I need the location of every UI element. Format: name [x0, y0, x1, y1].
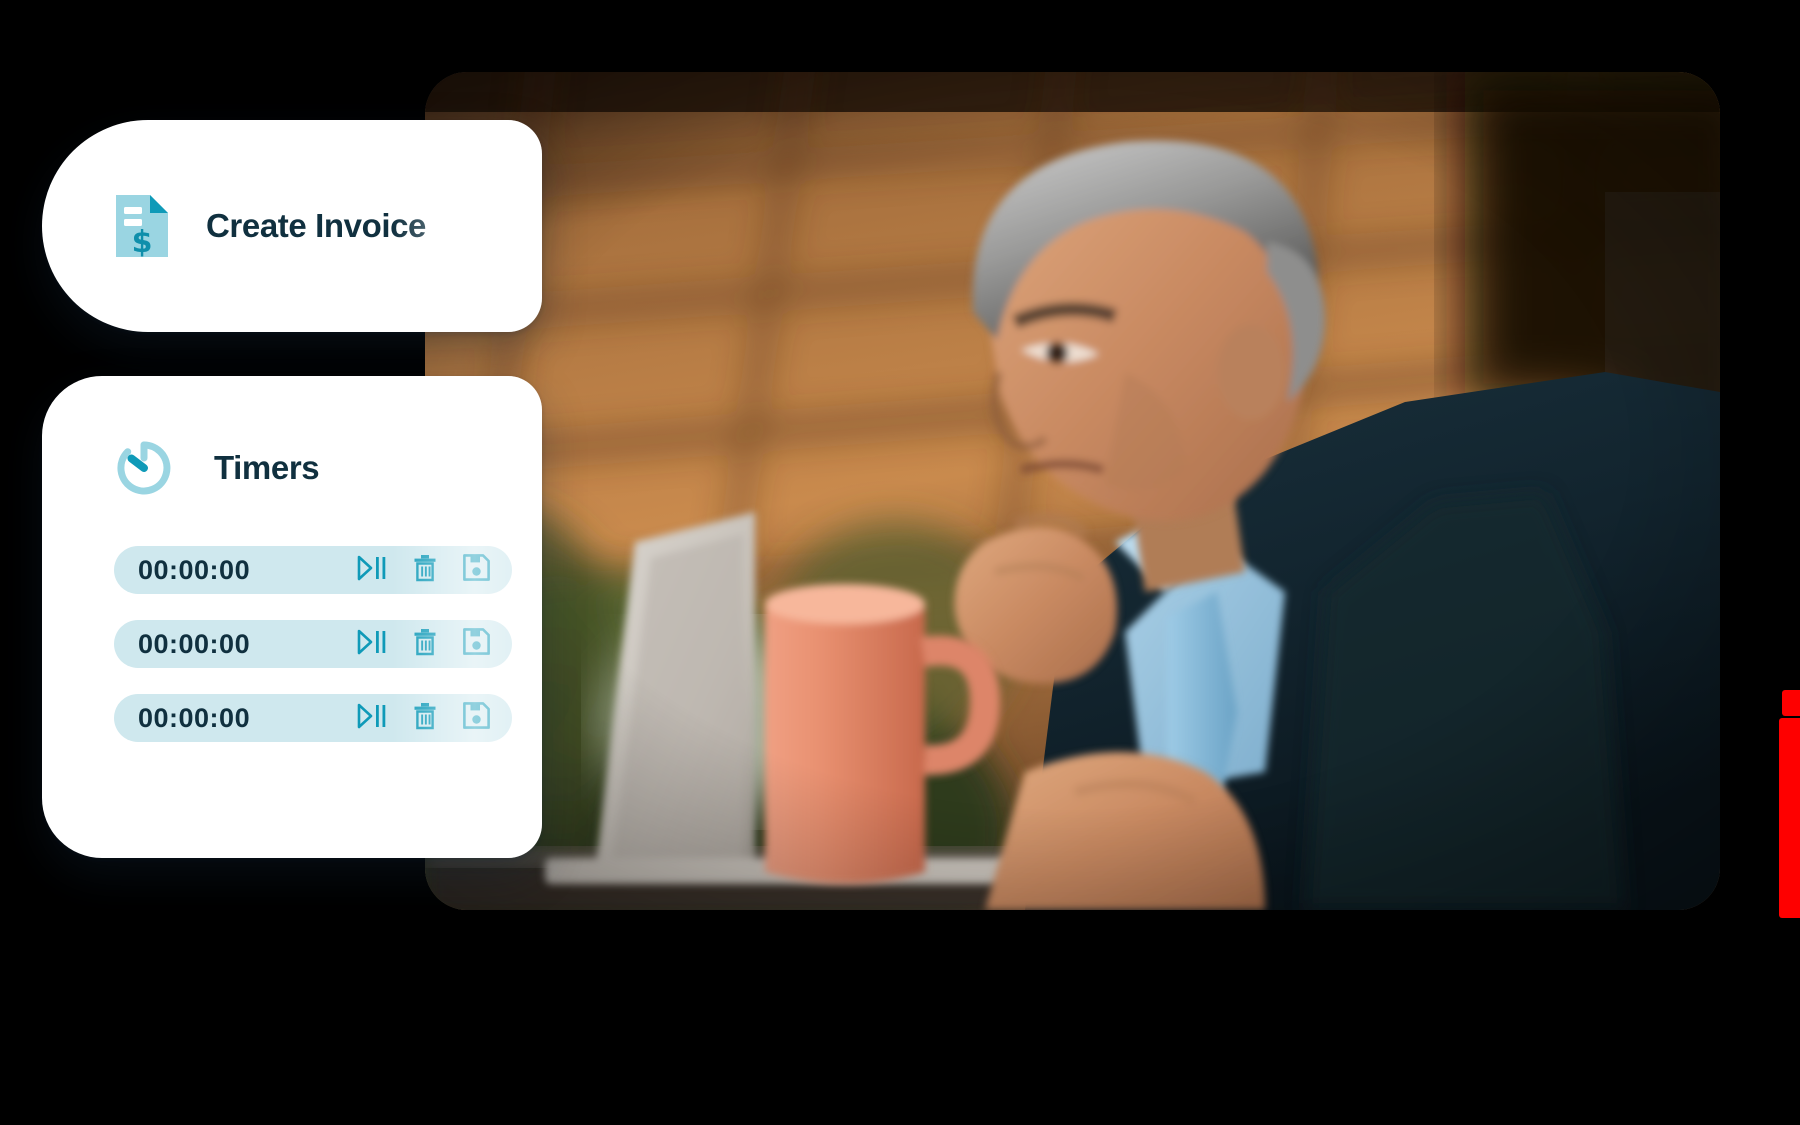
timers-card: Timers 00:00:00 — [42, 376, 542, 858]
timers-title: Timers — [214, 449, 319, 487]
save-icon[interactable] — [463, 702, 490, 734]
timer-value: 00:00:00 — [138, 631, 250, 658]
hero-photo — [425, 72, 1720, 910]
timer-row[interactable]: 00:00:00 — [114, 620, 512, 668]
play-pause-icon[interactable] — [357, 703, 387, 734]
timer-actions — [357, 554, 490, 587]
save-icon[interactable] — [463, 554, 490, 586]
timer-list: 00:00:00 — [114, 546, 542, 742]
timer-value: 00:00:00 — [138, 705, 250, 732]
accent-strip-small — [1782, 690, 1800, 716]
create-invoice-title: Create Invoice — [206, 207, 426, 245]
accent-strip — [1779, 718, 1800, 918]
play-pause-icon[interactable] — [357, 629, 387, 660]
play-pause-icon[interactable] — [357, 555, 387, 586]
create-invoice-card[interactable]: $ Create Invoice — [42, 120, 542, 332]
screenshot-root: $ Create Invoice Timers 00:00:00 — [0, 0, 1800, 1125]
trash-icon[interactable] — [413, 628, 437, 661]
timer-row[interactable]: 00:00:00 — [114, 546, 512, 594]
invoice-document-dollar-icon: $ — [114, 193, 170, 259]
svg-text:$: $ — [132, 225, 153, 259]
trash-icon[interactable] — [413, 554, 437, 587]
timers-header: Timers — [114, 438, 542, 498]
timer-value: 00:00:00 — [138, 557, 250, 584]
trash-icon[interactable] — [413, 702, 437, 735]
stopwatch-icon — [114, 438, 174, 498]
timer-row[interactable]: 00:00:00 — [114, 694, 512, 742]
timer-actions — [357, 628, 490, 661]
save-icon[interactable] — [463, 628, 490, 660]
timer-actions — [357, 702, 490, 735]
